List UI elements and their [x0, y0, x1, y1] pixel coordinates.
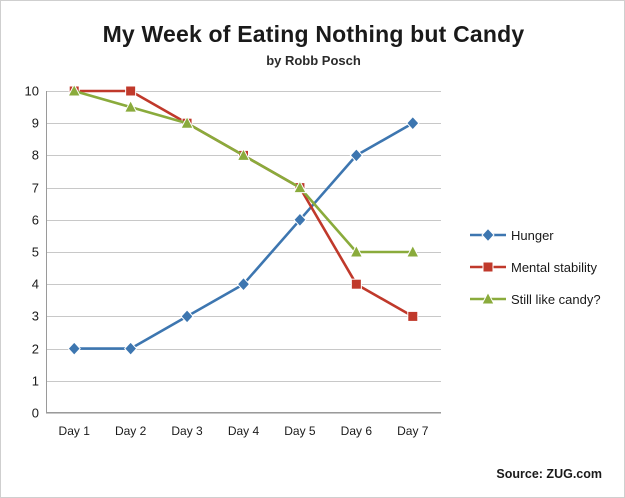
- legend-label: Hunger: [511, 228, 554, 243]
- y-axis-tick-label: 10: [25, 84, 39, 99]
- y-axis-tick-label: 8: [32, 148, 39, 163]
- y-axis-tick-label: 6: [32, 212, 39, 227]
- y-axis-tick-label: 0: [32, 406, 39, 421]
- y-axis-tick-label: 4: [32, 277, 39, 292]
- legend-marker-icon: [469, 260, 507, 274]
- y-axis-tick-label: 3: [32, 309, 39, 324]
- x-axis-tick-label: Day 2: [115, 424, 146, 438]
- y-axis-tick-label: 7: [32, 180, 39, 195]
- legend-label: Still like candy?: [511, 292, 601, 307]
- legend-item[interactable]: Hunger: [469, 219, 619, 251]
- y-axis-tick-label: 1: [32, 373, 39, 388]
- legend: HungerMental stabilityStill like candy?: [469, 219, 619, 315]
- legend-label: Mental stability: [511, 260, 597, 275]
- x-axis-tick-label: Day 3: [171, 424, 202, 438]
- y-axis-tick-label: 2: [32, 341, 39, 356]
- series-layer: [46, 91, 441, 413]
- legend-item[interactable]: Still like candy?: [469, 283, 619, 315]
- x-axis-tick-label: Day 4: [228, 424, 259, 438]
- y-axis-tick-label: 5: [32, 245, 39, 260]
- x-axis-tick-label: Day 7: [397, 424, 428, 438]
- x-axis-tick-label: Day 6: [341, 424, 372, 438]
- legend-marker-icon: [469, 292, 507, 306]
- y-axis-tick-label: 9: [32, 116, 39, 131]
- legend-item[interactable]: Mental stability: [469, 251, 619, 283]
- series-still-like-candy: [68, 85, 419, 258]
- legend-marker-icon: [469, 228, 507, 242]
- x-axis-tick-label: Day 1: [59, 424, 90, 438]
- chart-container: My Week of Eating Nothing but Candy by R…: [0, 0, 625, 498]
- x-axis-tick-label: Day 5: [284, 424, 315, 438]
- gridline: [46, 413, 441, 414]
- plot-area: 012345678910 Day 1Day 2Day 3Day 4Day 5Da…: [46, 91, 441, 413]
- chart-subtitle: by Robb Posch: [1, 53, 625, 68]
- chart-title: My Week of Eating Nothing but Candy: [1, 21, 625, 48]
- source-note: Source: ZUG.com: [496, 467, 602, 481]
